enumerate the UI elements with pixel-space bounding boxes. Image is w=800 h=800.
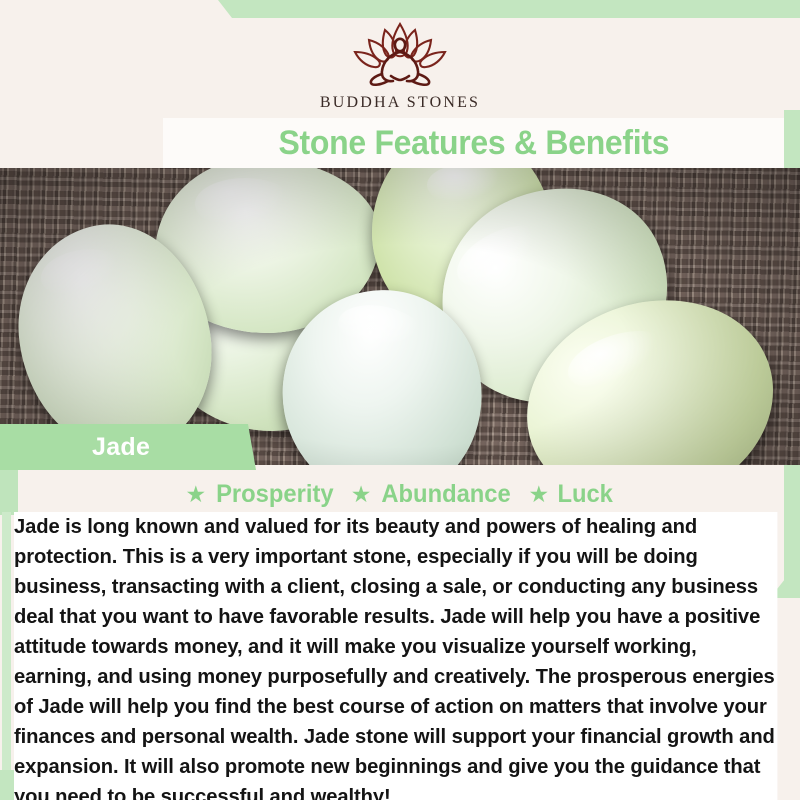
keyword-label: Prosperity [216,480,333,509]
page-title: Stone Features & Benefits [278,124,669,163]
keyword-item-abundance: ★ Abundance [351,480,515,509]
keyword-label: Luck [558,480,613,509]
keyword-label: Abundance [382,480,511,509]
poster-canvas: BUDDHA STONES Stone Features & Benefits … [0,0,800,800]
keyword-item-prosperity: ★ Prosperity [185,480,336,509]
star-icon: ★ [351,483,372,506]
stone-name-label: Jade [92,433,150,462]
star-icon: ★ [529,483,550,506]
brand-wordmark: BUDDHA STONES [320,94,480,112]
brand-logo: BUDDHA STONES [0,18,800,118]
jade-stones-photo [0,168,800,465]
lotus-meditation-icon [325,18,475,90]
star-icon: ★ [185,483,206,506]
description-paragraph: Jade is long known and valued for its be… [14,512,777,800]
stone-name-ribbon: Jade [0,424,256,470]
page-title-band: Stone Features & Benefits [163,118,784,168]
decor-copy-rail [2,512,11,770]
keyword-row: ★ Prosperity ★ Abundance ★ Luck [0,478,800,510]
decor-top-right-band [218,0,800,18]
keyword-item-luck: ★ Luck [529,480,615,509]
